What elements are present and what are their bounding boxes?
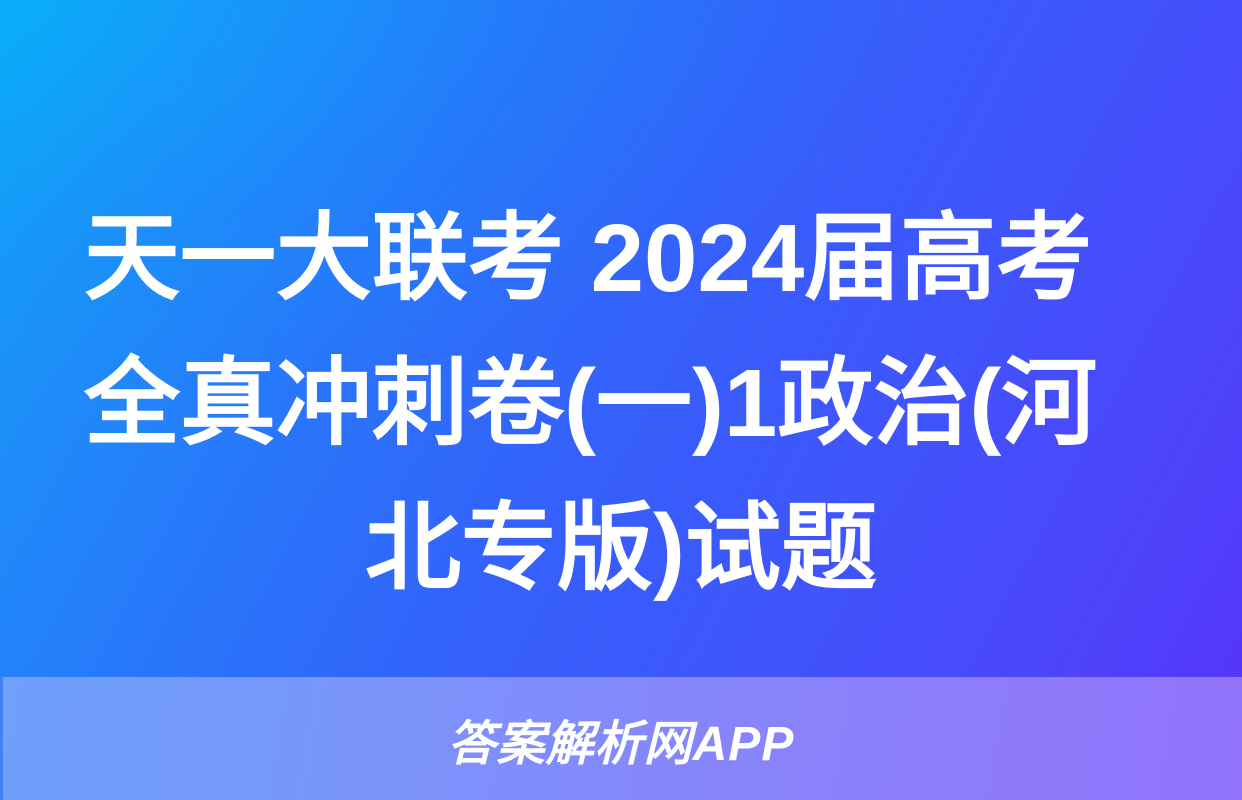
footer-watermark-band: 答案解析网APP bbox=[0, 677, 1242, 800]
page-title-line-2: 全真冲刺卷(一)1政治(河 bbox=[84, 331, 1158, 476]
app-watermark-label: 答案解析网APP bbox=[0, 677, 1242, 800]
cover-card: 天一大联考 2024届高考 全真冲刺卷(一)1政治(河 北专版)试题 答案解析网… bbox=[0, 0, 1242, 800]
page-title-line-1: 天一大联考 2024届高考 bbox=[84, 186, 1158, 331]
page-title-line-3: 北专版)试题 bbox=[84, 476, 1158, 621]
page-title: 天一大联考 2024届高考 全真冲刺卷(一)1政治(河 北专版)试题 bbox=[84, 186, 1158, 621]
